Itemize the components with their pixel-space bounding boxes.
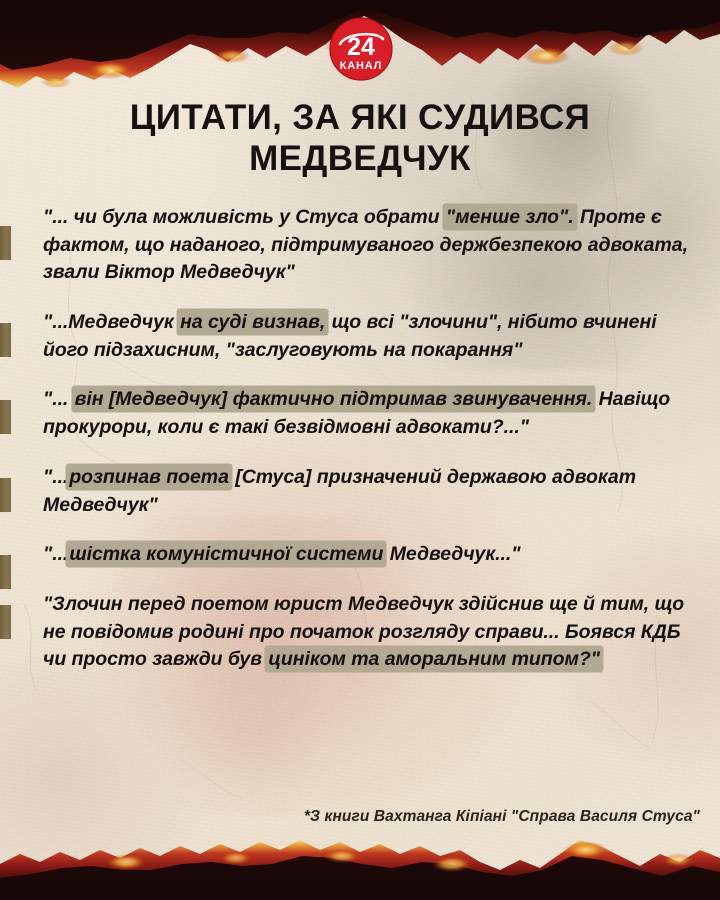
quote-segment: "...Медведчук (43, 311, 179, 333)
highlighted-phrase: розпинав поета (68, 466, 230, 488)
quote-segment: "... (43, 388, 74, 410)
quote-text: "... чи була можливість у Стуса обрати "… (43, 204, 703, 287)
quote-text: "... він [Медведчук] фактично підтримав … (43, 386, 703, 441)
quote-segment: "... чи була можливість у Стуса обрати (43, 206, 445, 228)
quote-marker-tab (0, 323, 11, 357)
source-footnote: *З книги Вахтанга Кіпіані "Справа Василя… (60, 808, 700, 826)
quote-marker-tab (0, 605, 11, 639)
poster-content: ЦИТАТИ, ЗА ЯКІ СУДИВСЯ МЕДВЕДЧУК "... чи… (0, 0, 720, 900)
quote-text: "...шістка комуністичної системи Медведч… (43, 541, 703, 569)
quote-block: "...шістка комуністичної системи Медведч… (43, 541, 703, 569)
quote-marker-tab (0, 555, 11, 589)
page-title: ЦИТАТИ, ЗА ЯКІ СУДИВСЯ МЕДВЕДЧУК (60, 98, 660, 180)
highlighted-phrase: "менше зло". (445, 206, 575, 228)
highlighted-phrase: на суді визнав, (179, 311, 326, 333)
quotes-list: "... чи була можливість у Стуса обрати "… (43, 204, 703, 696)
quote-block: "... чи була можливість у Стуса обрати "… (43, 204, 703, 287)
quote-text: "...Медведчук на суді визнав, що всі "зл… (43, 309, 703, 364)
quote-segment: "... (43, 466, 68, 488)
highlighted-phrase: циніком та аморальним типом?" (267, 648, 601, 670)
quote-marker-tab (0, 478, 11, 512)
highlighted-phrase: він [Медведчук] фактично підтримав звину… (74, 388, 594, 410)
infographic-poster: 24 КАНАЛ ЦИТАТИ, ЗА ЯКІ СУДИВСЯ МЕДВЕДЧУ… (0, 0, 720, 900)
quote-segment: Медведчук..." (384, 543, 520, 565)
quote-marker-tab (0, 226, 11, 260)
logo-word: КАНАЛ (340, 60, 382, 72)
quote-block: "...Медведчук на суді визнав, що всі "зл… (43, 309, 703, 364)
quote-segment: "... (43, 543, 68, 565)
quote-block: "Злочин перед поетом юрист Медведчук зді… (43, 591, 703, 674)
quote-block: "...розпинав поета [Стуса] призначений д… (43, 464, 703, 519)
quote-marker-tab (0, 400, 11, 434)
quote-text: "...розпинав поета [Стуса] призначений д… (43, 464, 703, 519)
logo-number: 24 (347, 33, 375, 61)
quote-block: "... він [Медведчук] фактично підтримав … (43, 386, 703, 441)
quote-text: "Злочин перед поетом юрист Медведчук зді… (43, 591, 703, 674)
highlighted-phrase: шістка комуністичної системи (68, 543, 384, 565)
channel-24-logo[interactable]: 24 КАНАЛ (329, 17, 393, 81)
